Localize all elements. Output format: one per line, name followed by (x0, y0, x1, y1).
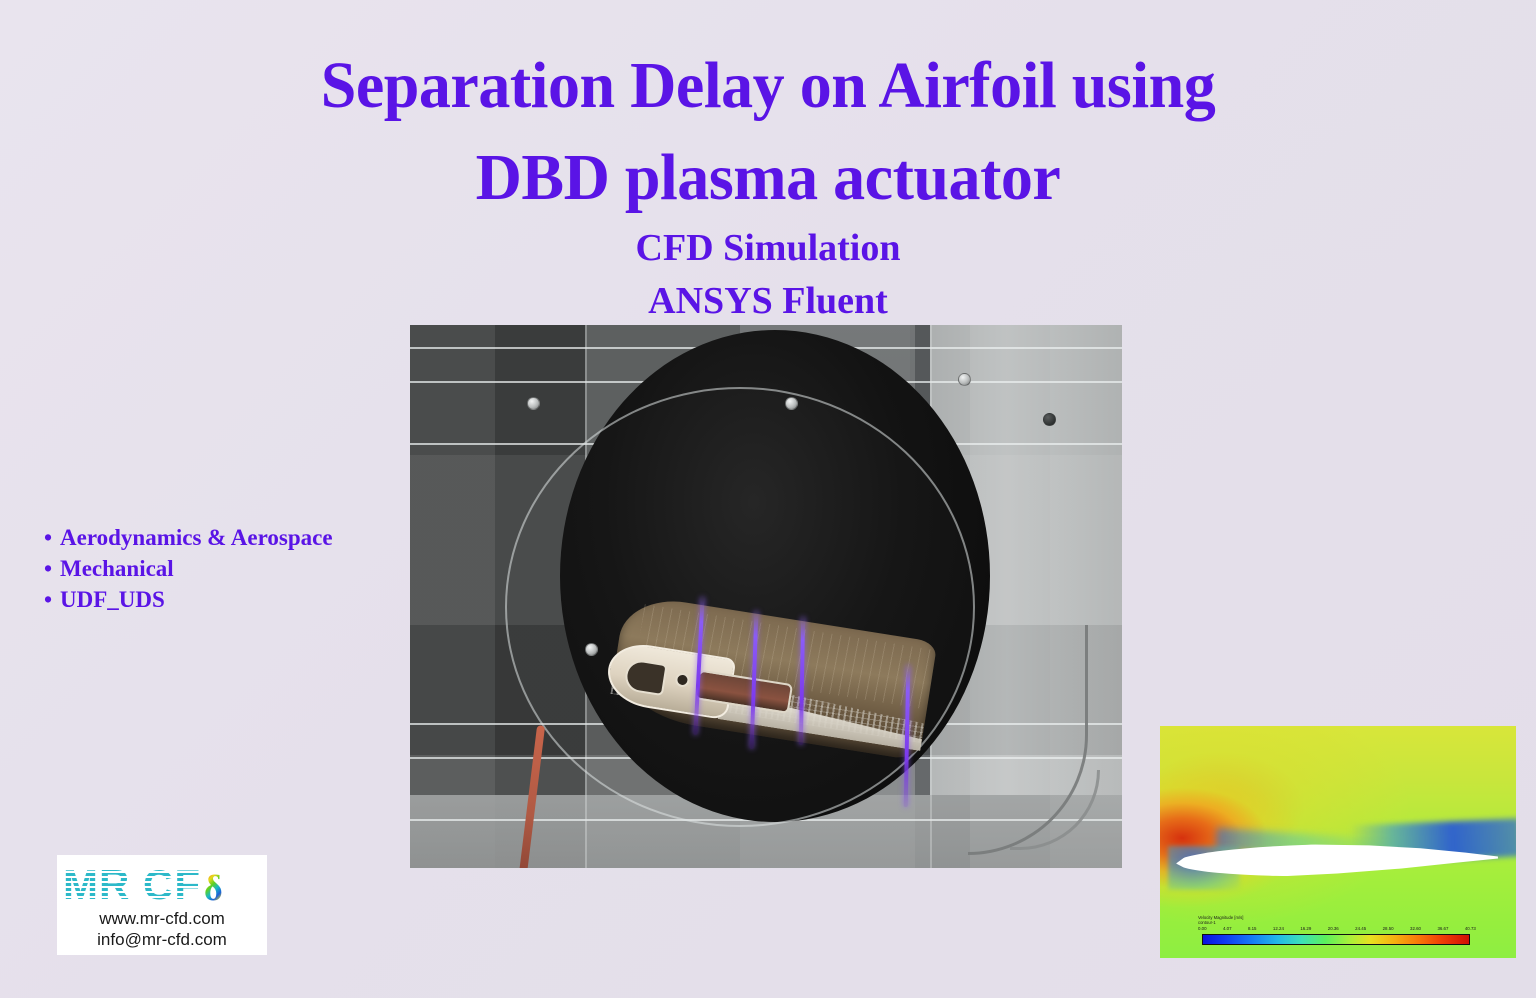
delta-icon: δ (204, 869, 223, 907)
colorbar-tick: 28.50 (1383, 926, 1394, 932)
colorbar-tick: 16.29 (1300, 926, 1311, 932)
subtitle-line-2: ANSYS Fluent (0, 275, 1536, 328)
bolt-icon (1043, 413, 1056, 426)
colorbar-tick: 24.45 (1355, 926, 1366, 932)
title-line-2: DBD plasma actuator (23, 132, 1513, 224)
cfd-contour-plot: Velocity Magnitude [m/s] contour-1 0.00 … (1160, 726, 1516, 958)
colorbar-tick: 12.24 (1273, 926, 1284, 932)
category-list: • Aerodynamics & Aerospace • Mechanical … (44, 522, 464, 615)
list-item-label: Aerodynamics & Aerospace (60, 522, 333, 553)
colorbar (1202, 934, 1470, 945)
wind-tunnel-photo (410, 325, 1122, 868)
colorbar-title: Velocity Magnitude [m/s] contour-1 (1198, 915, 1243, 925)
bolt-icon (527, 397, 540, 410)
list-item: • Mechanical (44, 553, 464, 584)
title-line-1: Separation Delay on Airfoil using (23, 40, 1513, 132)
list-item-label: UDF_UDS (60, 584, 165, 615)
colorbar-tick: 8.15 (1248, 926, 1257, 932)
bullet-icon: • (44, 584, 60, 615)
bolt-icon (958, 373, 971, 386)
page-title: Separation Delay on Airfoil using DBD pl… (0, 40, 1536, 224)
subtitle-line-1: CFD Simulation (0, 222, 1536, 275)
colorbar-tick: 40.73 (1465, 926, 1476, 932)
bullet-icon: • (44, 522, 60, 553)
subtitle-block: CFD Simulation ANSYS Fluent (0, 222, 1536, 328)
list-item: • UDF_UDS (44, 584, 464, 615)
colorbar-tick: 20.36 (1328, 926, 1339, 932)
colorbar-subtitle-text: contour-1 (1198, 920, 1243, 925)
bullet-icon: • (44, 553, 60, 584)
bolt-icon (585, 643, 598, 656)
logo-email: info@mr-cfd.com (57, 929, 267, 951)
logo-wordmark: MR CF (63, 863, 201, 907)
colorbar-tick: 4.07 (1223, 926, 1232, 932)
slide-canvas: Separation Delay on Airfoil using DBD pl… (0, 0, 1536, 998)
logo-mark: MR CF δ (63, 861, 261, 907)
brand-logo: MR CF δ www.mr-cfd.com info@mr-cfd.com (57, 855, 267, 955)
logo-website: www.mr-cfd.com (57, 908, 267, 930)
colorbar-tick: 32.60 (1410, 926, 1421, 932)
list-item-label: Mechanical (60, 553, 174, 584)
colorbar-tick: 0.00 (1198, 926, 1207, 932)
bolt-icon (785, 397, 798, 410)
list-item: • Aerodynamics & Aerospace (44, 522, 464, 553)
colorbar-tick-labels: 0.00 4.07 8.15 12.24 16.29 20.36 24.45 2… (1198, 926, 1476, 932)
colorbar-tick: 36.67 (1437, 926, 1448, 932)
